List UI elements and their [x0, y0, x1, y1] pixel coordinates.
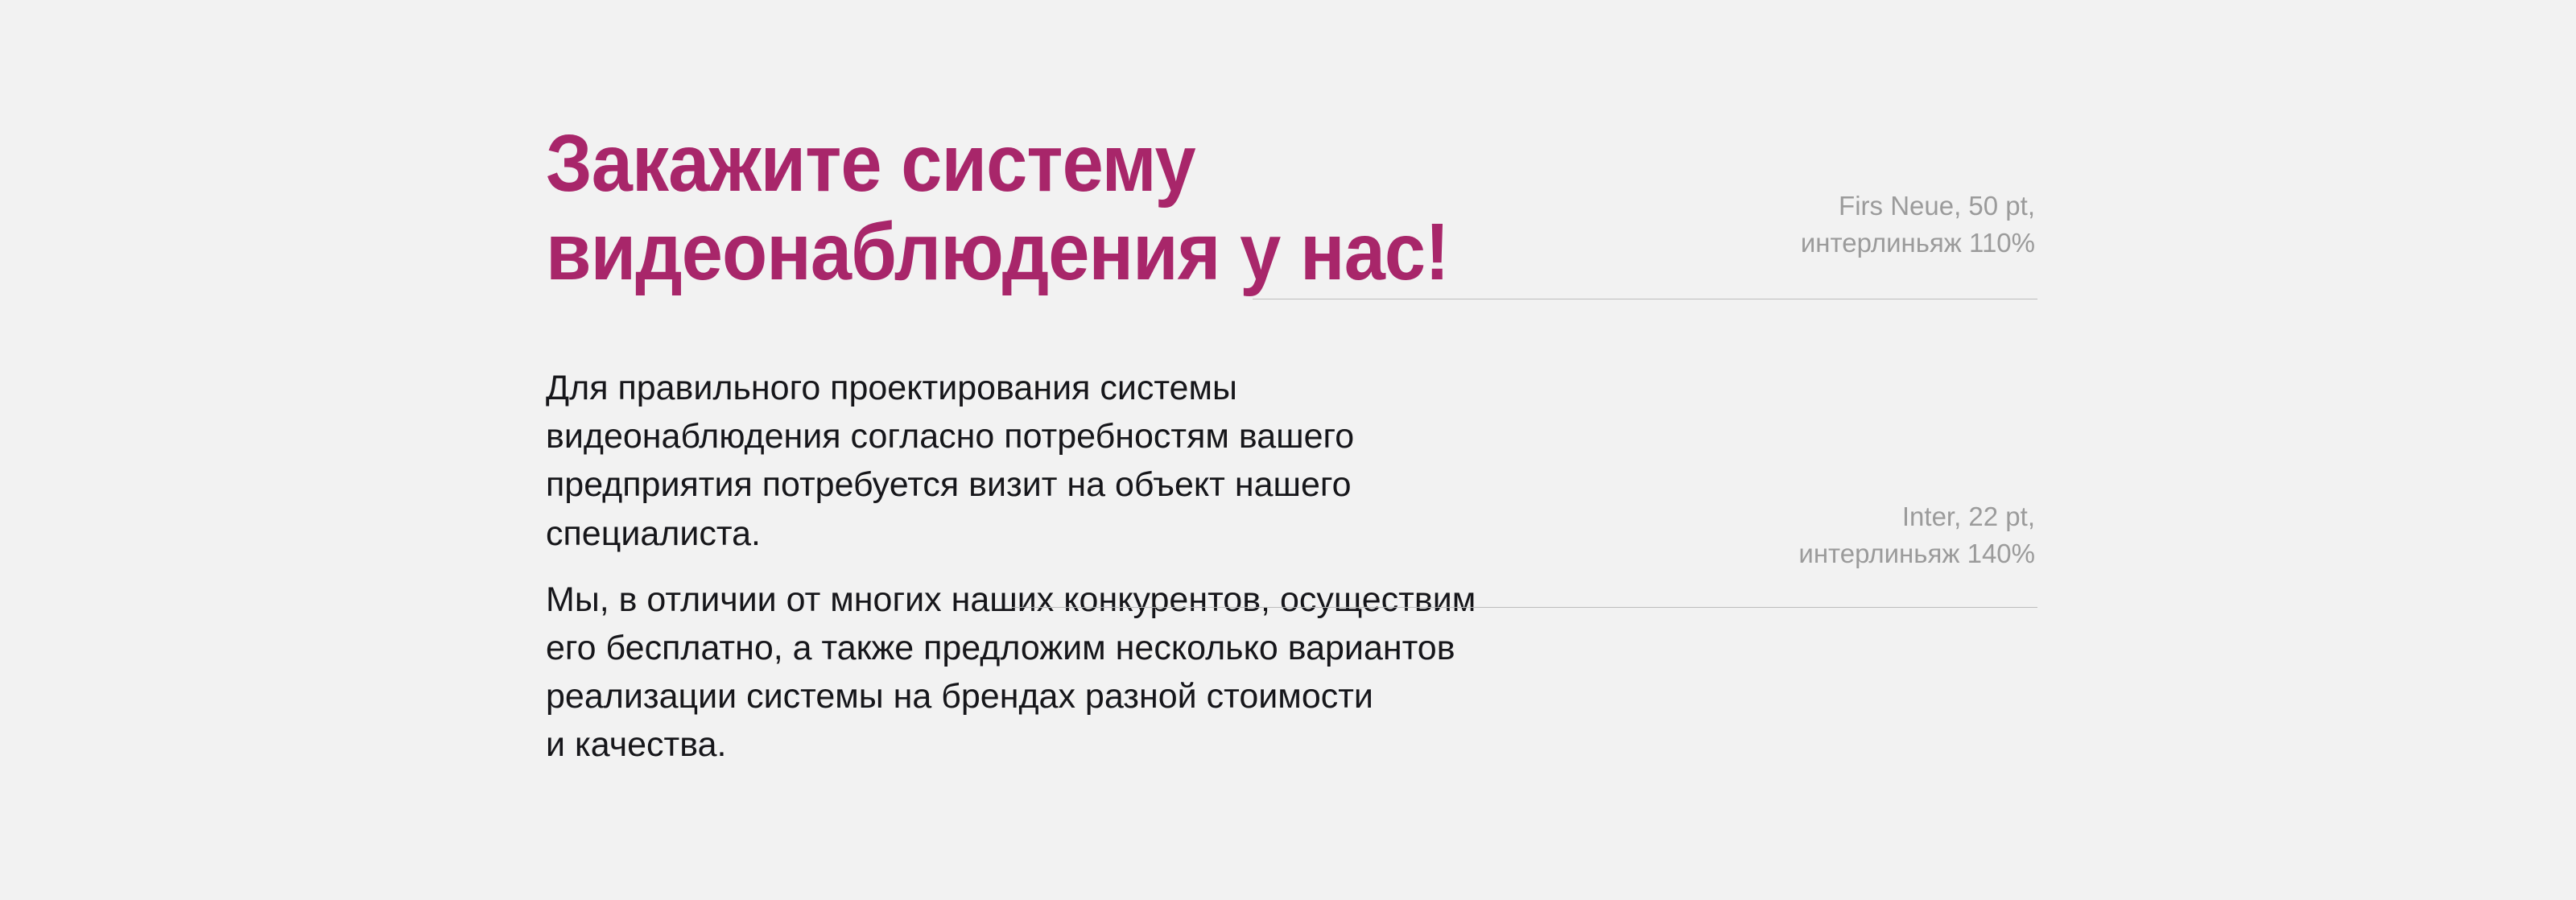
- headline-block: Закажите систему видеонаблюдения у нас!: [546, 119, 1673, 296]
- body-paragraph-2: Мы, в отличии от многих наших конкуренто…: [546, 576, 1608, 770]
- body-copy-block: Для правильного проектирования системы в…: [546, 364, 1608, 770]
- leader-rule-body: [1011, 607, 2037, 608]
- typography-spec-slide: Закажите систему видеонаблюдения у нас! …: [0, 0, 2576, 900]
- leader-rule-headline: [1253, 299, 2037, 299]
- headline-font-annotation: Firs Neue, 50 pt, интерлиньяж 110%: [1616, 188, 2035, 262]
- body-font-annotation: Inter, 22 pt, интерлиньяж 140%: [1616, 498, 2035, 572]
- body-paragraph-1: Для правильного проектирования системы в…: [546, 364, 1608, 558]
- page-title: Закажите систему видеонаблюдения у нас!: [546, 119, 1583, 296]
